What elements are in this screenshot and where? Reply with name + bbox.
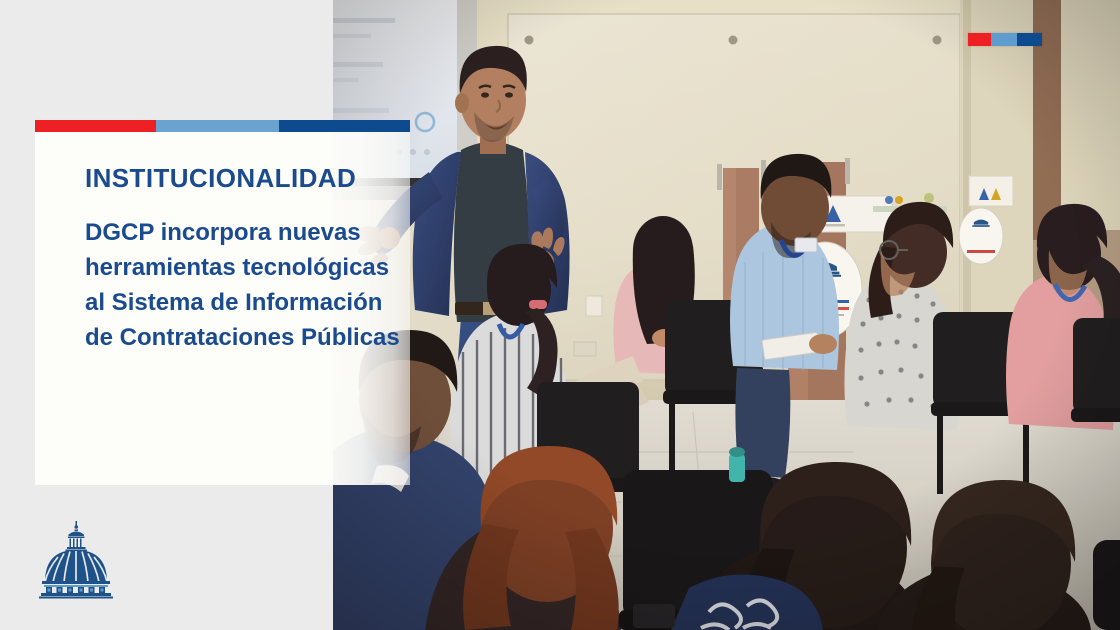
page-title: DGCP incorpora nuevas herramientas tecno… xyxy=(85,215,400,355)
headline-line-1: DGCP incorpora nuevas xyxy=(85,215,400,250)
card-content: INSTITUCIONALIDAD DGCP incorpora nuevas … xyxy=(35,132,410,485)
accent-bar-segment-light-blue xyxy=(991,33,1017,46)
tricolor-accent-bar xyxy=(968,33,1042,46)
card-accent-segment-red xyxy=(35,120,156,132)
headline-line-4: de Contrataciones Públicas xyxy=(85,320,400,355)
headline-card: INSTITUCIONALIDAD DGCP incorpora nuevas … xyxy=(35,120,410,485)
dome-logo xyxy=(34,518,118,600)
card-accent-segment-light-blue xyxy=(156,120,279,132)
event-photograph xyxy=(333,0,1120,630)
card-accent-bar xyxy=(35,120,410,132)
headline-line-3: al Sistema de Información xyxy=(85,285,400,320)
accent-bar-segment-dark-blue xyxy=(1017,33,1042,46)
category-label: INSTITUCIONALIDAD xyxy=(85,164,400,193)
accent-bar-segment-red xyxy=(968,33,991,46)
headline-line-2: herramientas tecnológicas xyxy=(85,250,400,285)
poster-canvas: INSTITUCIONALIDAD DGCP incorpora nuevas … xyxy=(0,0,1120,630)
card-accent-segment-dark-blue xyxy=(279,120,410,132)
